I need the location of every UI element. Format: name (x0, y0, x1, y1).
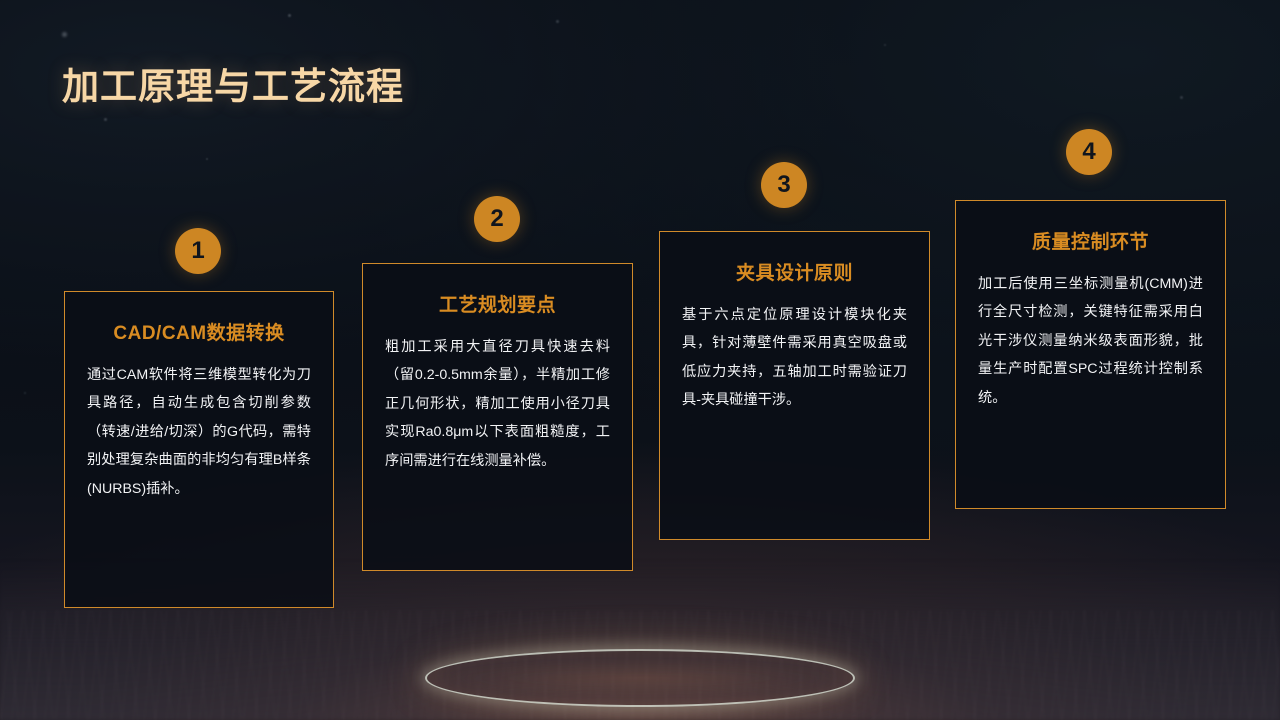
star-speck (206, 158, 208, 160)
step-card-body-4: 加工后使用三坐标测量机(CMM)进行全尺寸检测，关键特征需采用白光干涉仪测量纳米… (978, 270, 1203, 412)
star-speck (556, 20, 559, 23)
step-card-2[interactable]: 工艺规划要点 粗加工采用大直径刀具快速去料（留0.2-0.5mm余量），半精加工… (362, 263, 633, 571)
step-card-body-3: 基于六点定位原理设计模块化夹具，针对薄壁件需采用真空吸盘或低应力夹持，五轴加工时… (682, 301, 907, 415)
step-card-title-2: 工艺规划要点 (385, 290, 610, 317)
step-card-body-1: 通过CAM软件将三维模型转化为刀具路径，自动生成包含切削参数（转速/进给/切深）… (87, 361, 311, 503)
star-speck (24, 392, 26, 394)
star-speck (1180, 96, 1183, 99)
stage-glow-ring (425, 649, 855, 707)
page-title: 加工原理与工艺流程 (62, 56, 404, 110)
step-card-title-3: 夹具设计原则 (682, 258, 907, 285)
star-speck (884, 44, 886, 46)
step-card-title-4: 质量控制环节 (978, 227, 1203, 254)
step-number-badge-1: 1 (175, 228, 221, 274)
step-card-1[interactable]: CAD/CAM数据转换 通过CAM软件将三维模型转化为刀具路径，自动生成包含切削… (64, 291, 334, 608)
star-speck (104, 118, 107, 121)
step-card-3[interactable]: 夹具设计原则 基于六点定位原理设计模块化夹具，针对薄壁件需采用真空吸盘或低应力夹… (659, 231, 930, 540)
star-speck (62, 32, 67, 37)
star-speck (288, 14, 291, 17)
step-card-4[interactable]: 质量控制环节 加工后使用三坐标测量机(CMM)进行全尺寸检测，关键特征需采用白光… (955, 200, 1226, 509)
step-number-badge-2: 2 (474, 196, 520, 242)
step-card-body-2: 粗加工采用大直径刀具快速去料（留0.2-0.5mm余量），半精加工修正几何形状，… (385, 333, 610, 475)
step-card-title-1: CAD/CAM数据转换 (87, 318, 311, 345)
step-number-badge-4: 4 (1066, 129, 1112, 175)
step-number-badge-3: 3 (761, 162, 807, 208)
